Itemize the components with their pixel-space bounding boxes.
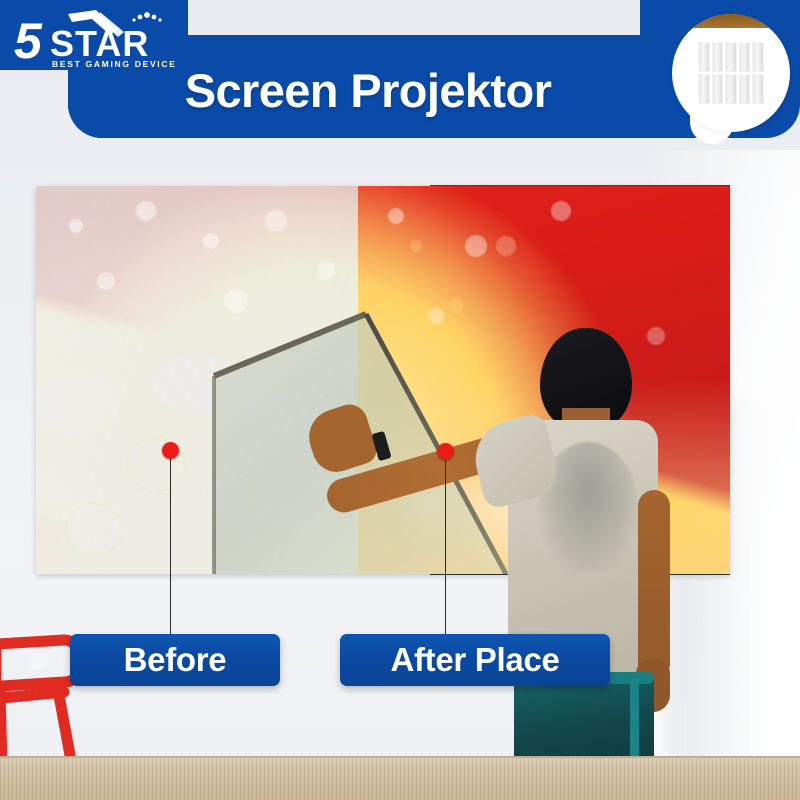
man-installing-screen xyxy=(470,300,710,780)
washed-bubbles xyxy=(36,186,358,346)
brand-tagline: BEST GAMING DEVICE xyxy=(52,59,177,69)
product-badge[interactable] xyxy=(672,14,790,132)
callout-dot-after xyxy=(437,443,454,460)
callout-pill-before[interactable]: Before xyxy=(70,634,280,686)
callout-label-before: Before xyxy=(124,641,227,679)
callout-label-after: After Place xyxy=(390,641,559,679)
right-arm xyxy=(638,490,670,680)
badge-roller-bar-icon xyxy=(692,14,770,28)
brand-logo[interactable]: 5 STAR BEST GAMING DEVICE xyxy=(12,8,187,70)
svg-text:STAR: STAR xyxy=(50,23,149,64)
callout-dot-before xyxy=(162,442,179,459)
svg-text:5: 5 xyxy=(14,13,43,69)
product-thumbnail-icon xyxy=(698,42,764,104)
callout-line-after xyxy=(445,459,446,636)
callout-line-before xyxy=(170,458,171,636)
wooden-floor xyxy=(0,758,800,800)
page-title-text: Screen Projektor xyxy=(185,63,552,118)
callout-pill-after[interactable]: After Place xyxy=(340,634,610,686)
